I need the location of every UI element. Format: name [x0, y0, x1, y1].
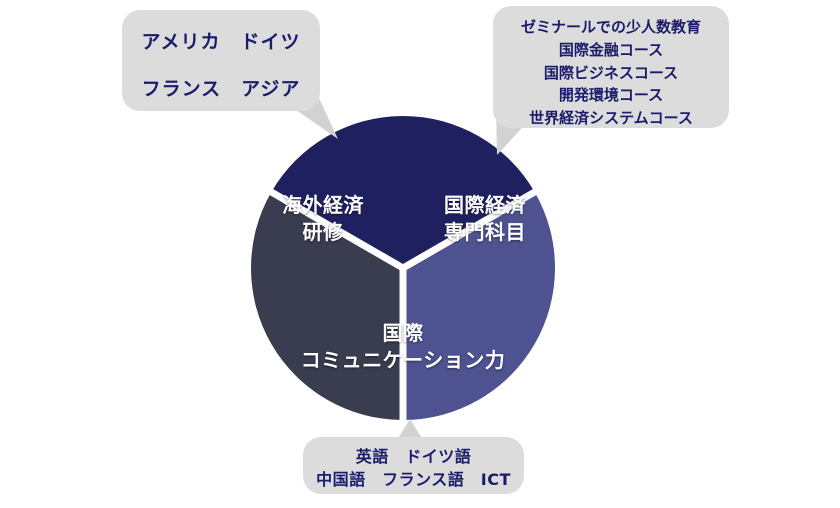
regions-callout-line-1: アメリカ ドイツ: [122, 28, 320, 57]
courses-callout-line-2: 国際金融コース: [493, 39, 729, 62]
diagram-canvas: 海外経済 研修 国際経済 専門科目 国際 コミュニケーション力 アメリカ ドイツ…: [0, 0, 840, 504]
languages-callout[interactable]: 英語 ドイツ語 中国語 フランス語 ICT: [303, 437, 524, 494]
courses-callout-line-4: 開発環境コース: [493, 84, 729, 107]
courses-callout-line-5: 世界経済システムコース: [493, 107, 729, 130]
languages-callout-line-2: 中国語 フランス語 ICT: [303, 468, 524, 491]
courses-callout-line-3: 国際ビジネスコース: [493, 62, 729, 85]
regions-callout[interactable]: アメリカ ドイツ フランス アジア: [122, 10, 320, 111]
courses-callout-line-1: ゼミナールでの少人数教育: [493, 16, 729, 39]
languages-callout-line-1: 英語 ドイツ語: [303, 445, 524, 468]
regions-callout-line-2: フランス アジア: [122, 75, 320, 104]
courses-callout[interactable]: ゼミナールでの少人数教育 国際金融コース 国際ビジネスコース 開発環境コース 世…: [493, 6, 729, 128]
